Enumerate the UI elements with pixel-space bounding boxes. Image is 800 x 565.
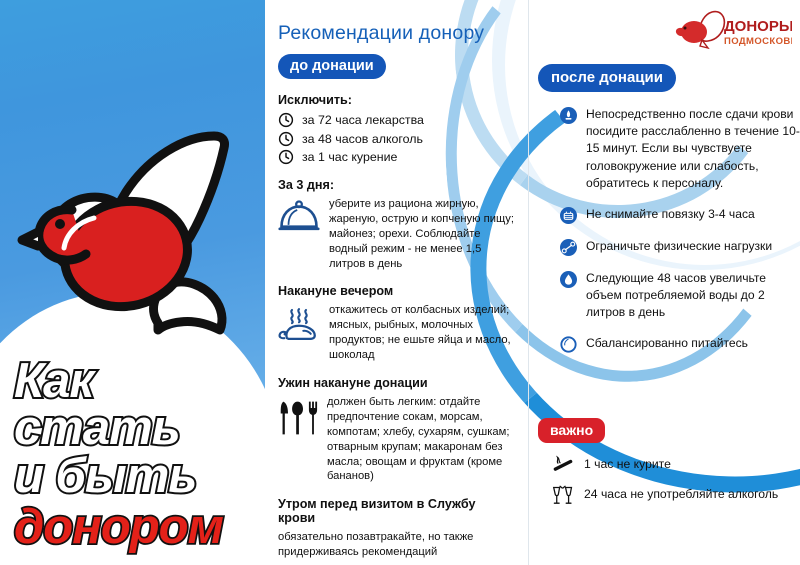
after-donation-item: Сбалансированно питайтесь bbox=[560, 335, 800, 353]
three-days-row: уберите из рациона жирную, жареную, остр… bbox=[278, 197, 514, 271]
important-item: 1 час не курите bbox=[552, 455, 800, 473]
after-donation-item: Ограничьте физические нагрузки bbox=[560, 238, 800, 256]
balanced-diet-icon bbox=[560, 336, 577, 353]
dumbbell-icon bbox=[560, 239, 577, 256]
important-item: 24 часа не употребляйте алкоголь bbox=[552, 485, 800, 507]
cigarette-icon bbox=[552, 455, 574, 473]
poster-root: Как стать и быть донором ДОНОРЫ ПОДМОСКО… bbox=[0, 0, 800, 565]
clock-icon bbox=[278, 112, 294, 128]
exclude-item: за 72 часа лекарства bbox=[278, 112, 514, 128]
after-donation-column: после донации Непосредственно после сдач… bbox=[538, 0, 800, 565]
title-line-1: Как стать bbox=[14, 358, 264, 451]
morning-heading: Утром перед визитом в Службу крови bbox=[278, 497, 514, 525]
three-days-heading: За 3 дня: bbox=[278, 178, 514, 192]
title-line-3: донором bbox=[14, 504, 264, 551]
water-drop-icon bbox=[560, 271, 577, 288]
clock-icon bbox=[278, 149, 294, 165]
after-donation-text: Сбалансированно питайтесь bbox=[586, 335, 748, 352]
after-donation-item: Не снимайте повязку 3-4 часа bbox=[560, 206, 800, 224]
bandage-arm-icon bbox=[560, 207, 577, 224]
logo-name-line2: ПОДМОСКОВЬЯ bbox=[724, 36, 792, 47]
poster-title: Как стать и быть донором bbox=[14, 358, 264, 550]
recommendations-heading: Рекомендации донору bbox=[278, 22, 514, 45]
recommendations-column: Рекомендации донору до донации Исключить… bbox=[278, 0, 514, 565]
exclude-item: за 48 часов алкоголь bbox=[278, 131, 514, 147]
important-text: 1 час не курите bbox=[584, 456, 671, 472]
badge-after-donation: после донации bbox=[538, 64, 676, 92]
dinner-heading: Ужин накануне донации bbox=[278, 376, 514, 390]
left-panel: Как стать и быть донором bbox=[0, 0, 265, 565]
after-donation-text: Ограничьте физические нагрузки bbox=[586, 238, 772, 255]
food-cloche-icon bbox=[278, 200, 320, 234]
exclude-heading: Исключить: bbox=[278, 93, 514, 107]
after-donation-text: Не снимайте повязку 3-4 часа bbox=[586, 206, 755, 223]
dinner-text: должен быть легким: отдайте предпочтение… bbox=[327, 395, 514, 484]
logo-name-line1: ДОНОРЫ bbox=[724, 18, 792, 35]
exclude-item-label: за 1 час курение bbox=[302, 150, 397, 164]
evening-before-heading: Накануне вечером bbox=[278, 284, 514, 298]
evening-before-row: откажитесь от колбасных изделий; мясных,… bbox=[278, 303, 514, 363]
after-donation-item: Следующие 48 часов увеличьте объем потре… bbox=[560, 270, 800, 322]
after-donation-text: Следующие 48 часов увеличьте объем потре… bbox=[586, 270, 800, 322]
clock-icon bbox=[278, 131, 294, 147]
bullfinch-bird-illustration bbox=[8, 118, 258, 348]
roast-chicken-icon bbox=[278, 306, 320, 342]
after-donation-item: Непосредственно после сдачи крови посиди… bbox=[560, 106, 800, 192]
evening-before-text: откажитесь от колбасных изделий; мясных,… bbox=[329, 303, 514, 363]
exclude-item-label: за 48 часов алкоголь bbox=[302, 132, 423, 146]
column-divider bbox=[528, 0, 529, 565]
champagne-glasses-icon bbox=[552, 485, 574, 507]
cutlery-icon bbox=[278, 398, 318, 438]
important-text: 24 часа не употребляйте алкоголь bbox=[584, 486, 778, 502]
title-line-2: и быть bbox=[14, 453, 264, 500]
morning-text: обязательно позавтракайте, но также прид… bbox=[278, 530, 514, 560]
badge-important: важно bbox=[538, 418, 605, 443]
exclude-item: за 1 час курение bbox=[278, 149, 514, 165]
sitting-person-icon bbox=[560, 107, 577, 124]
bullfinch-bird-logo-icon: ДОНОРЫ ПОДМОСКОВЬЯ bbox=[672, 6, 792, 52]
badge-before-donation: до донации bbox=[278, 54, 386, 79]
exclude-item-label: за 72 часа лекарства bbox=[302, 113, 424, 127]
dinner-row: должен быть легким: отдайте предпочтение… bbox=[278, 395, 514, 484]
after-donation-text: Непосредственно после сдачи крови посиди… bbox=[586, 106, 800, 192]
three-days-text: уберите из рациона жирную, жареную, остр… bbox=[329, 197, 514, 271]
